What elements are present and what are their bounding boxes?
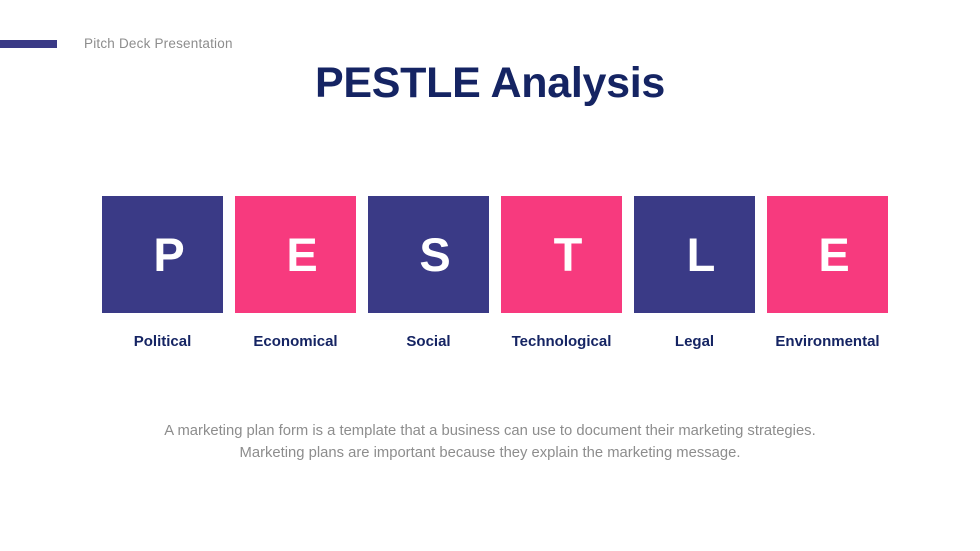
body-copy-line-1: A marketing plan form is a template that… — [140, 420, 840, 442]
pestle-letter-e1: E — [235, 196, 356, 313]
slide-canvas: Pitch Deck Presentation PESTLE Analysis … — [0, 0, 980, 551]
kicker-text: Pitch Deck Presentation — [84, 35, 233, 53]
pestle-label-economical: Economical — [235, 331, 356, 353]
pestle-letter-s: S — [368, 196, 489, 313]
pestle-blocks: P E S T L E — [102, 196, 880, 313]
pestle-letter-e2: E — [767, 196, 888, 313]
pestle-labels: Political Economical Social Technologica… — [102, 331, 880, 353]
accent-bar — [0, 40, 57, 48]
pestle-block-environmental[interactable]: E — [767, 196, 888, 313]
pestle-label-social: Social — [368, 331, 489, 353]
pestle-letter-l: L — [634, 196, 755, 313]
pestle-label-political: Political — [102, 331, 223, 353]
body-copy: A marketing plan form is a template that… — [140, 420, 840, 464]
pestle-letter-t: T — [501, 196, 622, 313]
pestle-block-political[interactable]: P — [102, 196, 223, 313]
pestle-block-economical[interactable]: E — [235, 196, 356, 313]
pestle-letter-p: P — [102, 196, 223, 313]
body-copy-line-2: Marketing plans are important because th… — [140, 442, 840, 464]
pestle-label-environmental: Environmental — [767, 331, 888, 353]
pestle-block-technological[interactable]: T — [501, 196, 622, 313]
pestle-block-social[interactable]: S — [368, 196, 489, 313]
pestle-label-legal: Legal — [634, 331, 755, 353]
pestle-block-legal[interactable]: L — [634, 196, 755, 313]
pestle-label-technological: Technological — [501, 331, 622, 353]
page-title: PESTLE Analysis — [0, 56, 980, 110]
